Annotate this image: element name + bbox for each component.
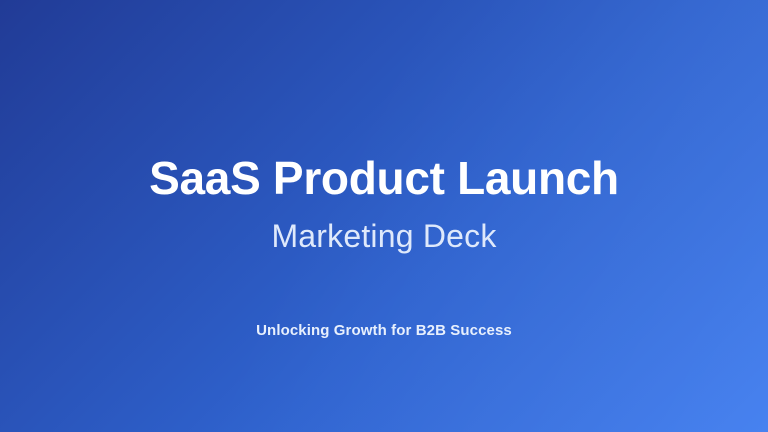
slide-content: SaaS Product Launch Marketing Deck Unloc… [0,0,768,338]
title-block: SaaS Product Launch Marketing Deck [0,155,768,252]
title-slide: SaaS Product Launch Marketing Deck Unloc… [0,0,768,432]
slide-title: SaaS Product Launch [149,155,619,201]
slide-subtitle: Marketing Deck [271,201,496,252]
slide-tagline: Unlocking Growth for B2B Success [256,252,512,338]
